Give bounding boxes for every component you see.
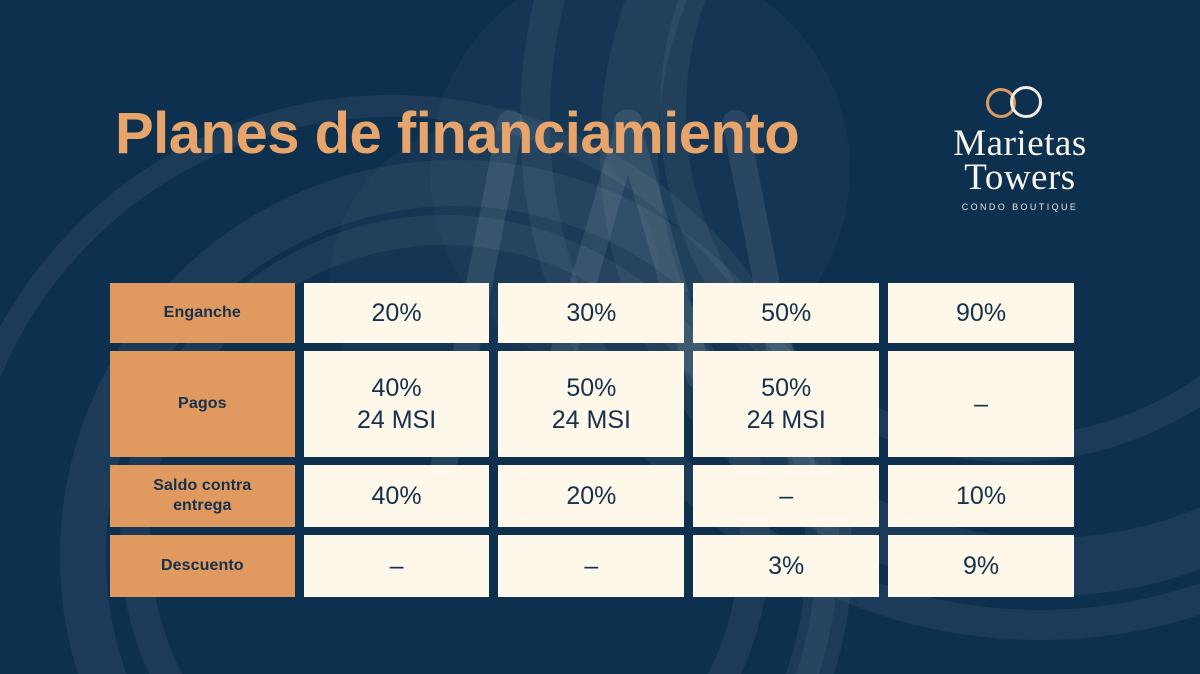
cell-line-1: 40% [372,374,422,402]
table-cell: 10% [888,465,1074,527]
row-label-saldo-contra-entrega: Saldo contra entrega [110,465,295,527]
table-cell: – [888,351,1074,457]
row-label-line-2: entrega [173,497,232,514]
table-cell: 3% [693,535,879,597]
table-cell: 20% [304,283,490,343]
row-label-line-1: Saldo contra [153,477,251,494]
cell-line-1: 9% [963,552,999,580]
cell-line-1: – [584,552,598,580]
cell-line-1: 3% [768,552,804,580]
logo-tagline: CONDO BOUTIQUE [930,202,1110,212]
table-cell: 40% 24 MSI [304,351,490,457]
table-cell: 50% [693,283,879,343]
cell-line-2: 24 MSI [693,404,879,437]
row-label-descuento: Descuento [110,535,295,597]
table-row: Descuento – – 3% 9% [110,535,1074,597]
cell-line-1: 50% [761,299,811,327]
table-cell: – [304,535,490,597]
slide-canvas: Planes de financiamiento Marietas Towers… [0,0,1200,674]
page-title: Planes de financiamiento [115,104,799,165]
table-cell: 30% [498,283,684,343]
table-cell: 90% [888,283,1074,343]
cell-line-1: 50% [566,374,616,402]
table-cell: 50% 24 MSI [498,351,684,457]
financing-plans-table: Enganche 20% 30% 50% 90% Pagos 40% 24 MS… [101,275,1083,605]
table-row: Saldo contra entrega 40% 20% – 10% [110,465,1074,527]
cell-line-1: 50% [761,374,811,402]
table-cell: – [498,535,684,597]
logo-rings-icon [930,82,1110,124]
table-cell: 20% [498,465,684,527]
cell-line-1: 30% [566,299,616,327]
table-cell: 50% 24 MSI [693,351,879,457]
brand-logo: Marietas Towers CONDO BOUTIQUE [930,82,1110,217]
cell-line-2: 24 MSI [304,404,490,437]
logo-word-secondary: Towers [930,160,1110,196]
row-label-pagos: Pagos [110,351,295,457]
cell-line-1: 20% [372,299,422,327]
logo-ring-right-icon [1010,86,1042,118]
table-cell: 40% [304,465,490,527]
cell-line-1: 90% [956,299,1006,327]
cell-line-1: 40% [372,482,422,510]
table-cell: – [693,465,879,527]
cell-line-2: 24 MSI [498,404,684,437]
cell-line-1: – [974,390,988,418]
row-label-enganche: Enganche [110,283,295,343]
table-row: Pagos 40% 24 MSI 50% 24 MSI 50% 24 MSI – [110,351,1074,457]
cell-line-1: 20% [566,482,616,510]
cell-line-1: – [390,552,404,580]
table-cell: 9% [888,535,1074,597]
cell-line-1: 10% [956,482,1006,510]
cell-line-1: – [779,482,793,510]
table-row: Enganche 20% 30% 50% 90% [110,283,1074,343]
